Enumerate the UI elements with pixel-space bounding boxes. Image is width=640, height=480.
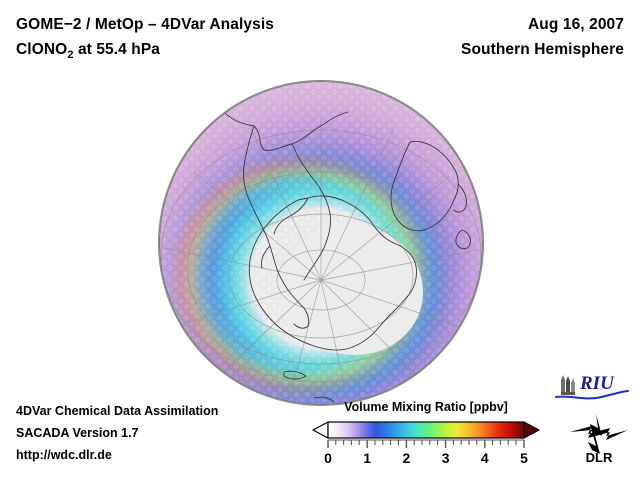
graticule-meridians <box>164 118 478 402</box>
coastline-island-arc <box>284 371 334 402</box>
footer-version-label: SACADA Version 1.7 <box>16 422 316 444</box>
colorbar-tick-1: 1 <box>363 450 371 466</box>
colorbar-tick-0: 0 <box>324 450 332 466</box>
dlr-wordmark: DLR <box>586 450 613 464</box>
colorbar-block: Volume Mixing Ratio [ppbv] <box>306 400 546 469</box>
colorbar-tick-3: 3 <box>442 450 450 466</box>
dlr-logo: DLR <box>566 412 632 464</box>
footer-left-block: 4DVar Chemical Data Assimilation SACADA … <box>16 400 316 466</box>
colorbar-ticks <box>328 440 524 448</box>
colorbar-over-cap <box>524 422 539 438</box>
riu-wordmark: RIU <box>579 373 615 394</box>
colorbar-title: Volume Mixing Ratio [ppbv] <box>306 400 546 414</box>
colorbar-tick-4: 4 <box>481 450 489 466</box>
colorbar-svg: 0 1 2 3 4 5 <box>306 419 546 469</box>
coastline-antarctica <box>249 196 416 350</box>
colorbar-tick-2: 2 <box>403 450 411 466</box>
colorbar-tick-5: 5 <box>520 450 528 466</box>
globe-overlay <box>158 80 484 406</box>
riu-logo: RIU <box>552 372 632 402</box>
header-right-block: Aug 16, 2007 Southern Hemisphere <box>324 12 624 62</box>
region-label: Southern Hemisphere <box>324 37 624 62</box>
riu-tower-icon <box>561 375 575 395</box>
colorbar-under-cap <box>313 422 328 438</box>
pressure-level: at 55.4 hPa <box>74 41 161 58</box>
date-label: Aug 16, 2007 <box>324 12 624 37</box>
colorbar-gradient <box>328 422 524 438</box>
species-name: ClONO <box>16 41 67 58</box>
coastline-south-america <box>220 108 348 328</box>
globe-map <box>158 80 484 406</box>
footer-url[interactable]: http://wdc.dlr.de <box>16 444 316 466</box>
footer-assimilation-label: 4DVar Chemical Data Assimilation <box>16 400 316 422</box>
